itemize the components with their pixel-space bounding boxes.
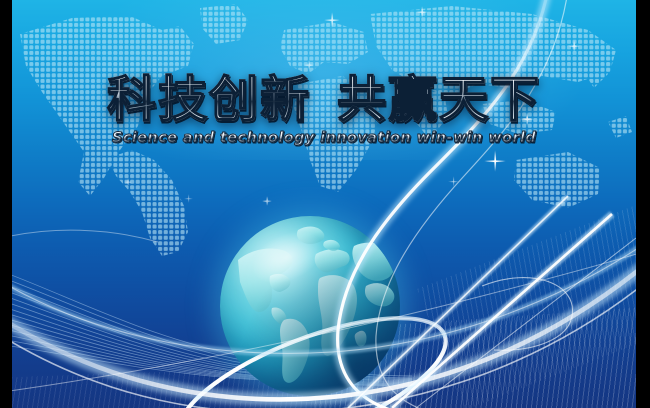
headline-block: 科技创新共赢天下 Science and technology innovati… (12, 72, 636, 147)
subtitle-english: Science and technology innovation win-wi… (112, 130, 536, 146)
headline-part-right: 共赢天下 (337, 71, 541, 128)
headline-part-left: 科技创新 (107, 71, 311, 128)
letterbox-right (636, 0, 650, 408)
light-swoosh (12, 0, 636, 408)
letterbox-left (0, 0, 12, 408)
artwork-canvas: 科技创新共赢天下 Science and technology innovati… (12, 0, 636, 408)
tech-banner-poster: 科技创新共赢天下 Science and technology innovati… (0, 0, 650, 408)
headline-chinese: 科技创新共赢天下 (107, 72, 541, 128)
